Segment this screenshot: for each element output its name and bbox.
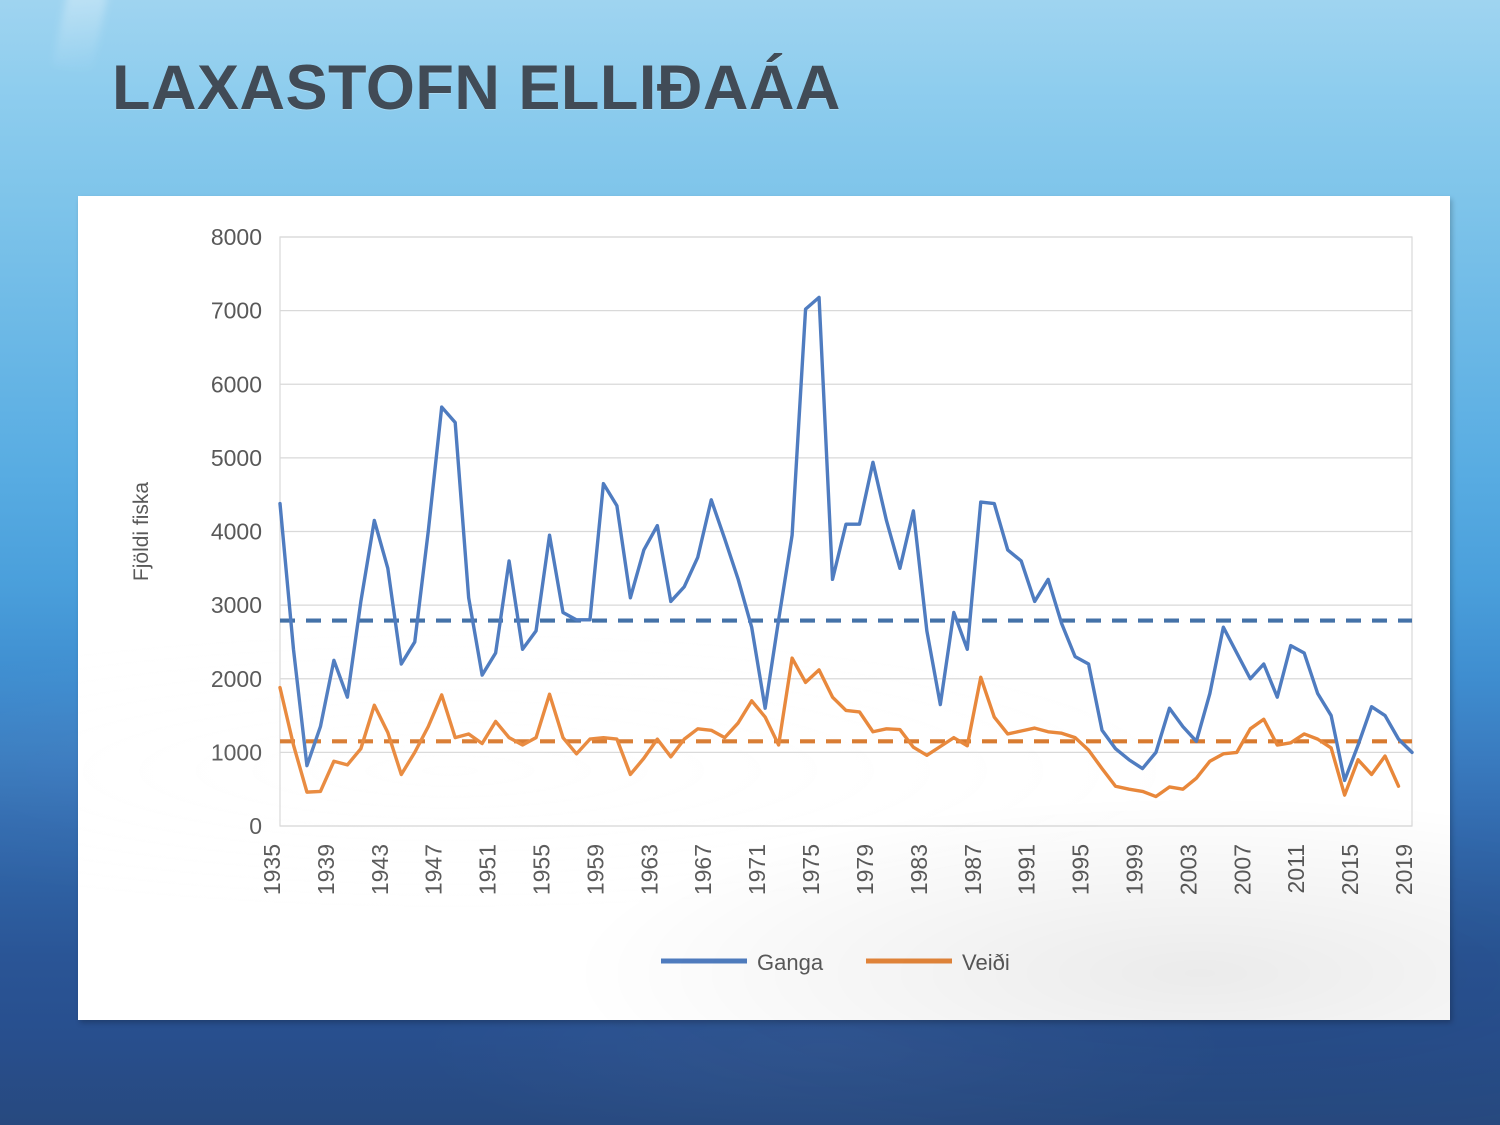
data-series-group bbox=[280, 297, 1412, 796]
x-tick-label: 1979 bbox=[852, 844, 878, 895]
slide-background: LAXASTOFN ELLIÐAÁA 010002000300040005000… bbox=[0, 0, 1500, 1125]
x-tick-label: 1999 bbox=[1121, 844, 1147, 895]
chart-card: 010002000300040005000600070008000 193519… bbox=[78, 196, 1450, 1020]
y-tick-label: 0 bbox=[249, 813, 262, 839]
y-tick-label: 3000 bbox=[211, 592, 262, 618]
page-title: LAXASTOFN ELLIÐAÁA bbox=[112, 52, 841, 124]
y-tick-label: 2000 bbox=[211, 666, 262, 692]
x-tick-label: 1991 bbox=[1014, 844, 1040, 895]
y-tick-label: 1000 bbox=[211, 739, 262, 765]
x-tick-label: 2003 bbox=[1175, 844, 1201, 895]
legend-label-veiði[interactable]: Veiði bbox=[962, 950, 1010, 975]
x-tick-label: 1943 bbox=[367, 844, 393, 895]
x-tick-label: 1955 bbox=[529, 844, 555, 895]
x-axis-ticks: 1935193919431947195119551959196319671971… bbox=[259, 844, 1417, 895]
y-tick-label: 5000 bbox=[211, 445, 262, 471]
light-streak-decoration bbox=[52, 0, 108, 73]
x-tick-label: 1947 bbox=[421, 844, 447, 895]
line-chart-svg[interactable]: 010002000300040005000600070008000 193519… bbox=[78, 196, 1450, 1020]
x-tick-label: 1971 bbox=[744, 844, 770, 895]
y-axis-ticks: 010002000300040005000600070008000 bbox=[211, 224, 262, 839]
x-tick-label: 1975 bbox=[798, 844, 824, 895]
x-tick-label: 1967 bbox=[690, 844, 716, 895]
y-tick-label: 6000 bbox=[211, 371, 262, 397]
x-tick-label: 1995 bbox=[1068, 844, 1094, 895]
y-axis-title: Fjöldi fiska bbox=[130, 482, 153, 582]
x-tick-label: 1963 bbox=[636, 844, 662, 895]
y-tick-label: 7000 bbox=[211, 298, 262, 324]
x-tick-label: 2015 bbox=[1337, 844, 1363, 895]
x-tick-label: 1987 bbox=[960, 844, 986, 895]
chart-legend[interactable]: GangaVeiði bbox=[661, 950, 1010, 975]
legend-label-ganga[interactable]: Ganga bbox=[757, 950, 824, 975]
chart-plot[interactable]: 010002000300040005000600070008000 193519… bbox=[78, 196, 1450, 1020]
x-tick-label: 1959 bbox=[582, 844, 608, 895]
y-tick-label: 8000 bbox=[211, 224, 262, 250]
gridlines-group bbox=[280, 237, 1412, 826]
x-tick-label: 1935 bbox=[259, 844, 285, 895]
series-line-ganga bbox=[280, 297, 1412, 780]
x-tick-label: 1951 bbox=[475, 844, 501, 895]
x-tick-label: 2019 bbox=[1391, 844, 1417, 895]
x-tick-label: 1939 bbox=[313, 844, 339, 895]
x-tick-label: 2007 bbox=[1229, 844, 1255, 895]
y-axis-label: Fjöldi fiska bbox=[130, 482, 153, 582]
x-tick-label: 1983 bbox=[906, 844, 932, 895]
y-tick-label: 4000 bbox=[211, 519, 262, 545]
x-tick-label: 2011 bbox=[1283, 844, 1309, 893]
